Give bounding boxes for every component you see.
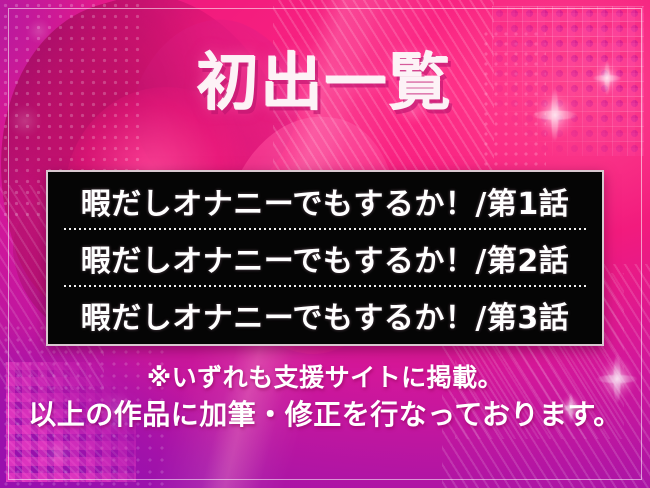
list-item-label: 暇だしオナニーでもするか！/第3話 — [81, 293, 570, 337]
bokeh-circle — [26, 18, 52, 44]
list-item: 暇だしオナニーでもするか！/第2話 — [48, 230, 602, 287]
list-item: 暇だしオナニーでもするか！/第3話 — [48, 287, 602, 344]
title-list-panel: 暇だしオナニーでもするか！/第1話 暇だしオナニーでもするか！/第2話 暇だしオ… — [46, 170, 604, 346]
banner-image: 初出一覧 暇だしオナニーでもするか！/第1話 暇だしオナニーでもするか！/第2話… — [0, 0, 650, 488]
list-item-label: 暇だしオナニーでもするか！/第1話 — [81, 179, 570, 223]
list-item-label: 暇だしオナニーでもするか！/第2話 — [81, 236, 570, 280]
caption-block: ※いずれも支援サイトに掲載。 以上の作品に加筆・修正を行なっております。 — [0, 362, 650, 432]
page-title: 初出一覧 — [0, 52, 650, 114]
bokeh-circle — [44, 440, 72, 468]
list-item: 暇だしオナニーでもするか！/第1話 — [48, 173, 602, 230]
caption-line-1: ※いずれも支援サイトに掲載。 — [0, 362, 650, 393]
caption-line-2: 以上の作品に加筆・修正を行なっております。 — [0, 397, 650, 432]
